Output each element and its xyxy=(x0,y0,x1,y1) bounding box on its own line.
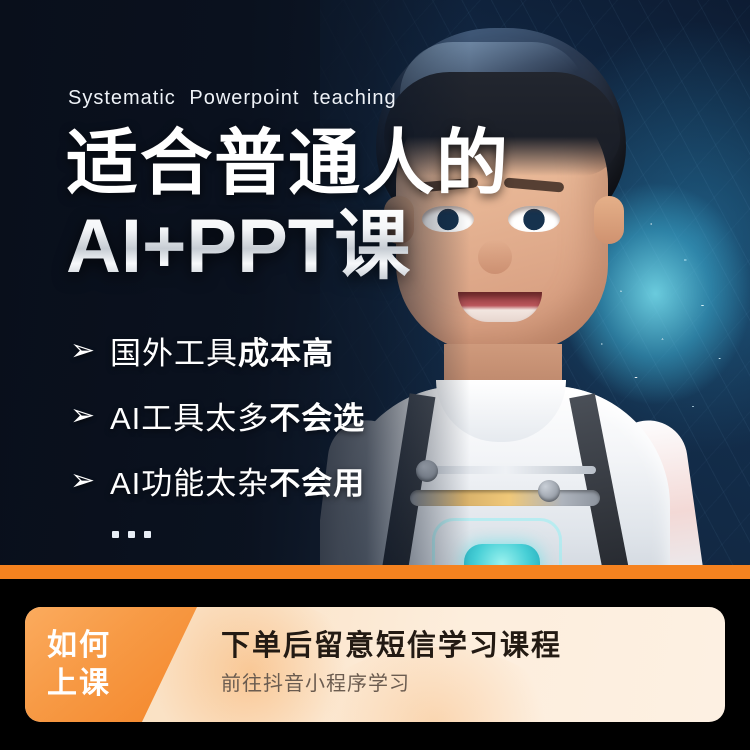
list-item: ➢ AI功能太杂不会用 xyxy=(70,448,450,513)
banner-subtitle: 前往抖音小程序学习 xyxy=(221,669,562,699)
tag-line-1: 如何 xyxy=(47,627,111,665)
ellipsis-dot xyxy=(128,531,135,538)
arrow-bullet-icon: ➢ xyxy=(70,466,110,496)
list-item: ➢ 国外工具成本高 xyxy=(70,318,450,383)
orange-divider xyxy=(0,565,750,579)
eye-right xyxy=(508,206,560,232)
page-subtitle-metallic: AI+PPT课 xyxy=(66,206,410,288)
list-item-text-normal: AI工具太多 xyxy=(110,401,269,436)
list-item-text-normal: AI功能太杂 xyxy=(110,466,269,501)
bottom-section: 如何 上课 下单后留意短信学习课程 前往抖音小程序学习 xyxy=(0,579,750,750)
how-to-attend-banner[interactable]: 如何 上课 下单后留意短信学习课程 前往抖音小程序学习 xyxy=(25,607,725,722)
arrow-bullet-icon: ➢ xyxy=(70,401,110,431)
list-item-text: AI工具太多不会选 xyxy=(110,393,365,438)
eyebrow-text: Systematic Powerpoint teaching xyxy=(68,87,397,110)
ellipsis-indicator xyxy=(112,531,151,538)
banner-text-block: 下单后留意短信学习课程 前往抖音小程序学习 xyxy=(221,627,562,699)
nose xyxy=(478,240,512,274)
list-item-text: AI功能太杂不会用 xyxy=(110,458,365,503)
ellipsis-dot xyxy=(112,531,119,538)
tag-line-2: 上课 xyxy=(47,665,111,703)
list-item-text-bold: 不会用 xyxy=(269,466,365,501)
list-item-text-bold: 不会选 xyxy=(269,401,365,436)
hero-section: Systematic Powerpoint teaching 适合普通人的 AI… xyxy=(0,0,750,565)
arrow-bullet-icon: ➢ xyxy=(70,336,110,366)
page-title: 适合普通人的 xyxy=(66,126,510,202)
list-item-text: 国外工具成本高 xyxy=(110,328,334,373)
ellipsis-dot xyxy=(144,531,151,538)
chest-glow-panel xyxy=(464,544,540,565)
list-item-text-bold: 成本高 xyxy=(238,336,334,371)
list-item-text-normal: 国外工具 xyxy=(110,336,238,371)
promo-poster: Systematic Powerpoint teaching 适合普通人的 AI… xyxy=(0,0,750,750)
chest-knob-right xyxy=(538,480,560,502)
banner-title: 下单后留意短信学习课程 xyxy=(221,627,562,665)
list-item: ➢ AI工具太多不会选 xyxy=(70,383,450,448)
ear-right xyxy=(594,196,624,244)
benefit-list: ➢ 国外工具成本高 ➢ AI工具太多不会选 ➢ AI功能太杂不会用 xyxy=(70,318,450,513)
